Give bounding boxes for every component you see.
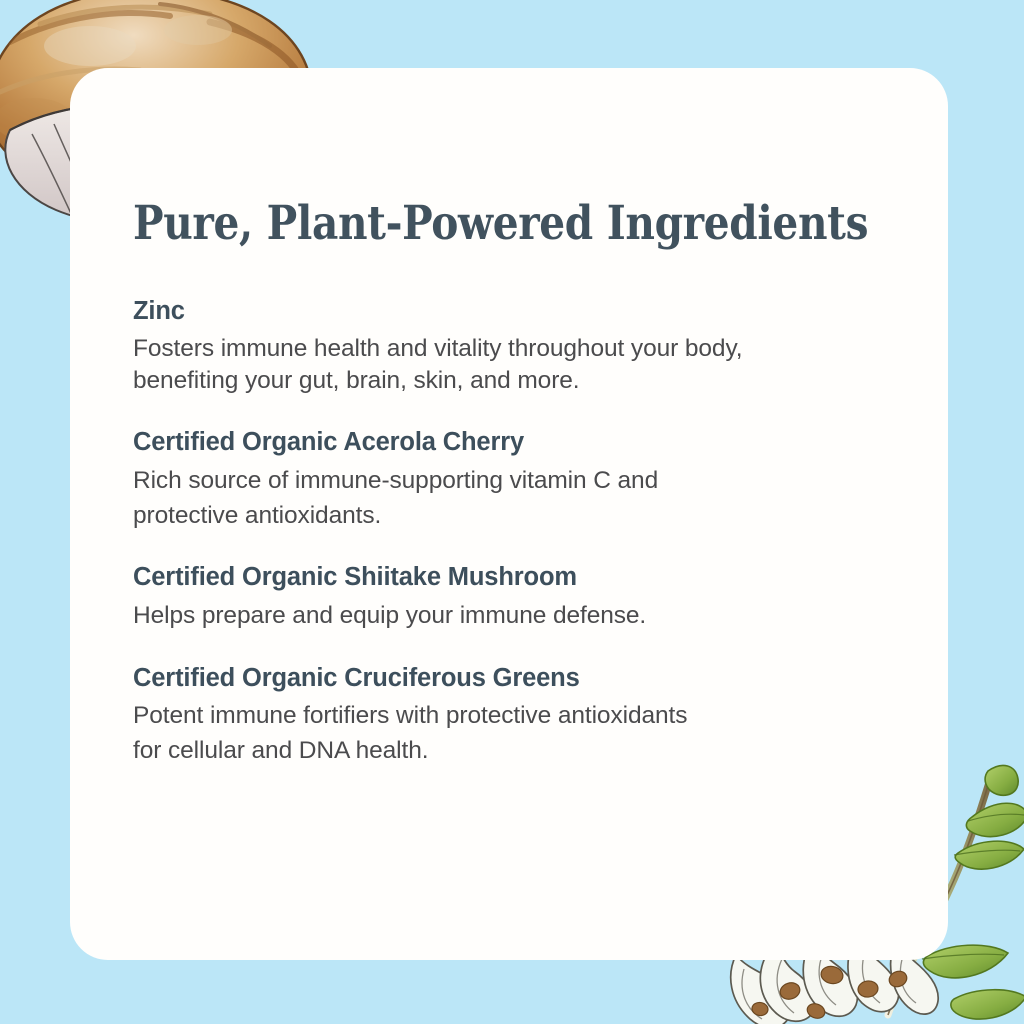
ingredient-description: Helps prepare and equip your immune defe… xyxy=(133,599,900,634)
card-content: Pure, Plant-Powered Ingredients Zinc Fos… xyxy=(133,200,900,769)
ingredient-list: Zinc Fosters immune health and vitality … xyxy=(133,295,900,769)
list-item: Zinc Fosters immune health and vitality … xyxy=(133,295,900,398)
ingredient-description: Fosters immune health and vitality throu… xyxy=(133,333,900,399)
ingredient-name: Certified Organic Acerola Cherry xyxy=(133,426,900,459)
ingredient-name: Certified Organic Cruciferous Greens xyxy=(133,662,900,695)
ingredient-description: Rich source of immune-supporting vitamin… xyxy=(133,464,900,534)
list-item: Certified Organic Shiitake Mushroom Help… xyxy=(133,561,900,633)
ingredients-panel-stage: Pure, Plant-Powered Ingredients Zinc Fos… xyxy=(0,0,1024,1024)
ingredient-name: Certified Organic Shiitake Mushroom xyxy=(133,561,900,594)
ingredient-name: Zinc xyxy=(133,295,900,328)
list-item: Certified Organic Acerola Cherry Rich so… xyxy=(133,426,900,533)
page-title: Pure, Plant-Powered Ingredients xyxy=(133,200,796,249)
ingredient-description: Potent immune fortifiers with protective… xyxy=(133,699,900,769)
list-item: Certified Organic Cruciferous Greens Pot… xyxy=(133,662,900,769)
ingredients-card: Pure, Plant-Powered Ingredients Zinc Fos… xyxy=(70,68,948,960)
